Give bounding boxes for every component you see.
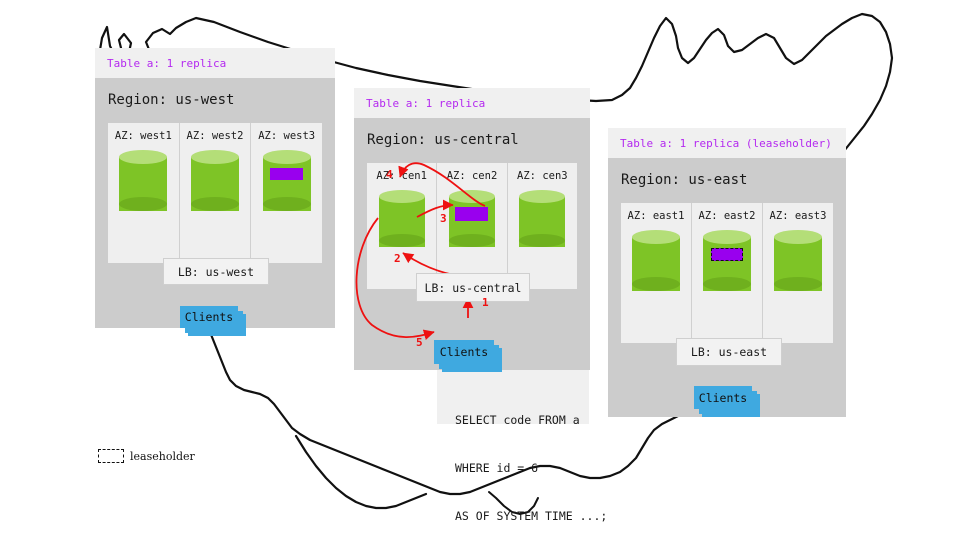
- az-label-east3: AZ: east3: [770, 210, 827, 222]
- legend-label: leaseholder: [130, 450, 195, 463]
- node-cylinder-east2[interactable]: [703, 230, 751, 298]
- az-label-west3: AZ: west3: [258, 130, 315, 142]
- az-strip-us-west: AZ: west1 AZ: west2 AZ: [108, 123, 322, 263]
- replica-range-west3[interactable]: [270, 168, 303, 180]
- cylinder-bottom-ellipse: [191, 197, 239, 211]
- cylinder-bottom-ellipse: [703, 277, 751, 291]
- cylinder-top-ellipse: [191, 150, 239, 164]
- cylinder-top-ellipse: [263, 150, 311, 164]
- az-label-cen2: AZ: cen2: [447, 170, 498, 182]
- load-balancer-us-central[interactable]: LB: us-central: [416, 273, 530, 302]
- az-label-east2: AZ: east2: [699, 210, 756, 222]
- load-balancer-us-west[interactable]: LB: us-west: [163, 258, 269, 285]
- node-cylinder-cen3[interactable]: [519, 190, 565, 254]
- diagram-canvas: Table a: 1 replica Region: us-west AZ: w…: [0, 0, 960, 540]
- az-cell-east2[interactable]: AZ: east2: [692, 203, 763, 343]
- az-cell-west2[interactable]: AZ: west2: [180, 123, 252, 263]
- region-card-us-central: Table a: 1 replica Region: us-central AZ…: [354, 88, 590, 370]
- node-cylinder-cen1[interactable]: [379, 190, 425, 254]
- az-cell-cen1[interactable]: AZ: cen1: [367, 163, 437, 289]
- clients-stack-us-east[interactable]: Clients: [694, 386, 766, 421]
- flow-step-number-2: 2: [394, 252, 401, 265]
- region-card-us-east: Table a: 1 replica (leaseholder) Region:…: [608, 128, 846, 417]
- cylinder-top-ellipse: [449, 190, 495, 203]
- cylinder-top-ellipse: [379, 190, 425, 203]
- node-cylinder-cen2[interactable]: [449, 190, 495, 254]
- sql-statement-box: SELECT code FROM a WHERE id = 6 AS OF SY…: [437, 370, 589, 424]
- cylinder-top-ellipse: [632, 230, 680, 244]
- az-cell-east3[interactable]: AZ: east3: [763, 203, 833, 343]
- sql-line-3: AS OF SYSTEM TIME ...;: [455, 508, 589, 524]
- node-cylinder-east3[interactable]: [774, 230, 822, 298]
- region-body-us-west: Region: us-west AZ: west1 AZ: west2: [95, 78, 335, 328]
- clients-stack-us-west[interactable]: Clients: [180, 306, 250, 340]
- region-title-us-east: Region: us-east: [621, 172, 747, 188]
- az-cell-cen3[interactable]: AZ: cen3: [508, 163, 577, 289]
- region-title-us-west: Region: us-west: [108, 92, 234, 108]
- az-strip-us-east: AZ: east1 AZ: east2: [621, 203, 833, 343]
- flow-step-number-3: 3: [440, 212, 447, 225]
- flow-step-number-1: 1: [482, 296, 489, 309]
- leaseholder-swatch-icon: [98, 449, 124, 463]
- flow-step-number-5: 5: [416, 336, 423, 349]
- node-cylinder-east1[interactable]: [632, 230, 680, 298]
- az-label-cen1: AZ: cen1: [376, 170, 427, 182]
- az-cell-west1[interactable]: AZ: west1: [108, 123, 180, 263]
- node-cylinder-west3[interactable]: [263, 150, 311, 218]
- cylinder-bottom-ellipse: [519, 234, 565, 247]
- cylinder-bottom-ellipse: [263, 197, 311, 211]
- clients-stack-us-central[interactable]: Clients: [434, 340, 508, 376]
- cylinder-bottom-ellipse: [774, 277, 822, 291]
- az-cell-cen2[interactable]: AZ: cen2: [437, 163, 507, 289]
- az-cell-west3[interactable]: AZ: west3: [251, 123, 322, 263]
- az-strip-us-central: AZ: cen1 AZ: cen2: [367, 163, 577, 289]
- az-label-east1: AZ: east1: [628, 210, 685, 222]
- cylinder-bottom-ellipse: [119, 197, 167, 211]
- clients-label-us-west[interactable]: Clients: [180, 306, 238, 328]
- az-label-west1: AZ: west1: [115, 130, 172, 142]
- region-banner-us-west: Table a: 1 replica: [95, 48, 335, 78]
- cylinder-bottom-ellipse: [449, 234, 495, 247]
- cylinder-bottom-ellipse: [379, 234, 425, 247]
- az-cell-east1[interactable]: AZ: east1: [621, 203, 692, 343]
- az-label-west2: AZ: west2: [187, 130, 244, 142]
- load-balancer-us-east[interactable]: LB: us-east: [676, 338, 782, 366]
- cylinder-top-ellipse: [119, 150, 167, 164]
- legend: leaseholder: [98, 449, 195, 463]
- region-title-us-central: Region: us-central: [367, 132, 519, 148]
- cylinder-top-ellipse: [519, 190, 565, 203]
- cylinder-top-ellipse: [774, 230, 822, 244]
- replica-range-east2-leaseholder[interactable]: [711, 248, 743, 261]
- region-body-us-central: Region: us-central AZ: cen1 AZ: cen2: [354, 118, 590, 370]
- sql-line-2: WHERE id = 6: [455, 460, 589, 476]
- sql-line-1: SELECT code FROM a: [455, 412, 589, 428]
- clients-label-us-east[interactable]: Clients: [694, 386, 752, 409]
- node-cylinder-west2[interactable]: [191, 150, 239, 218]
- cylinder-bottom-ellipse: [632, 277, 680, 291]
- region-body-us-east: Region: us-east AZ: east1 AZ: east2: [608, 158, 846, 417]
- flow-step-number-4: 4: [386, 168, 393, 181]
- region-banner-us-central: Table a: 1 replica: [354, 88, 590, 118]
- region-banner-us-east: Table a: 1 replica (leaseholder): [608, 128, 846, 158]
- replica-range-cen2[interactable]: [455, 207, 488, 221]
- cylinder-top-ellipse: [703, 230, 751, 244]
- region-card-us-west: Table a: 1 replica Region: us-west AZ: w…: [95, 48, 335, 328]
- clients-label-us-central[interactable]: Clients: [434, 340, 494, 364]
- node-cylinder-west1[interactable]: [119, 150, 167, 218]
- az-label-cen3: AZ: cen3: [517, 170, 568, 182]
